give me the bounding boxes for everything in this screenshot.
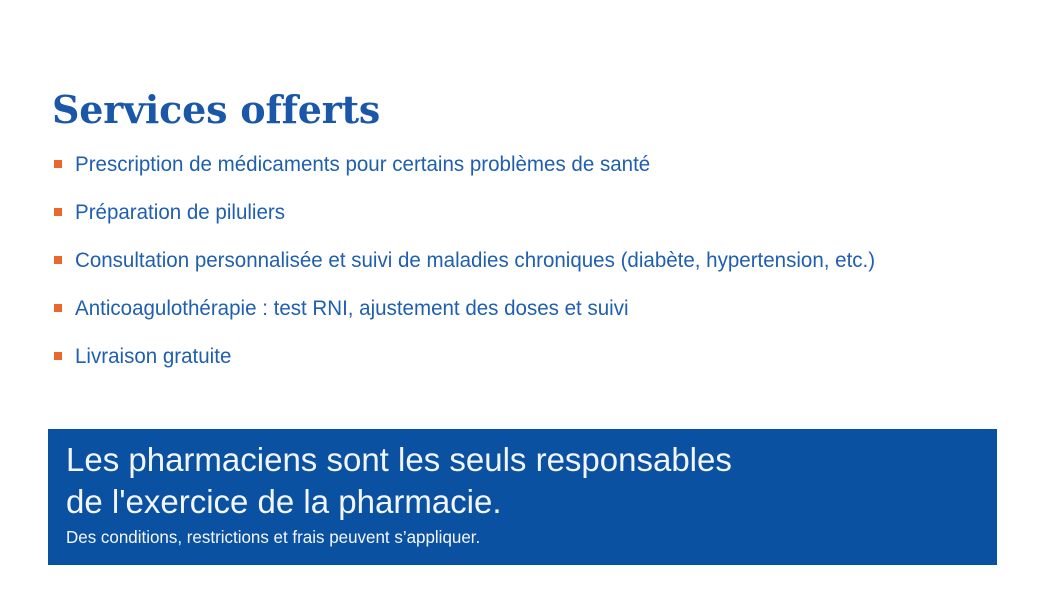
callout-heading-line-2: de l'exercice de la pharmacie. (66, 481, 997, 523)
list-item-label: Anticoagulothérapie : test RNI, ajusteme… (75, 295, 629, 321)
list-item: Livraison gratuite (52, 332, 1032, 380)
disclaimer-callout-box: Les pharmaciens sont les seuls responsab… (48, 429, 997, 565)
list-item-label: Prescription de médicaments pour certain… (75, 151, 650, 177)
list-item-label: Livraison gratuite (75, 343, 231, 369)
square-bullet-icon (54, 352, 62, 360)
page-title: Services offerts (52, 87, 380, 133)
list-item: Prescription de médicaments pour certain… (52, 140, 1032, 188)
square-bullet-icon (54, 160, 62, 168)
list-item: Préparation de piluliers (52, 188, 1032, 236)
list-item: Consultation personnalisée et suivi de m… (52, 236, 1032, 284)
list-item-label: Préparation de piluliers (75, 199, 285, 225)
square-bullet-icon (54, 208, 62, 216)
slide-canvas: Services offerts Prescription de médicam… (0, 0, 1050, 600)
services-bullet-list: Prescription de médicaments pour certain… (52, 140, 1032, 380)
square-bullet-icon (54, 256, 62, 264)
callout-heading-line-1: Les pharmaciens sont les seuls responsab… (66, 439, 997, 481)
list-item-label: Consultation personnalisée et suivi de m… (75, 247, 875, 273)
square-bullet-icon (54, 304, 62, 312)
callout-heading: Les pharmaciens sont les seuls responsab… (66, 439, 997, 523)
callout-subtext: Des conditions, restrictions et frais pe… (66, 526, 969, 548)
list-item: Anticoagulothérapie : test RNI, ajusteme… (52, 284, 1032, 332)
